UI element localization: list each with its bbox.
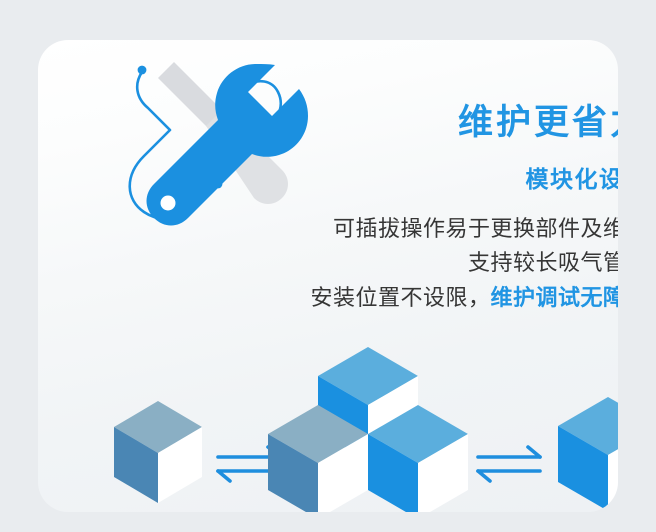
text-block: 维护更省力 模块化设计 可插拔操作易于更换部件及维护 支持较长吸气管网 安装位置… (188, 102, 618, 316)
feature-line-2-text: 支持较长吸气管网 (468, 250, 618, 275)
module-cube-cluster (268, 347, 468, 512)
module-cube-right (558, 397, 618, 511)
feature-line-1-text: 可插拔操作易于更换部件及维护 (333, 216, 618, 241)
infographic-stage: 维护更省力 模块化设计 可插拔操作易于更换部件及维护 支持较长吸气管网 安装位置… (0, 0, 656, 532)
feature-line-1: 可插拔操作易于更换部件及维护 (188, 212, 618, 247)
feature-line-3-highlight: 维护调试无障碍 (490, 285, 618, 310)
module-cube-left (114, 401, 202, 503)
circuit-node-icon (138, 66, 147, 75)
section-subtitle: 模块化设计 (188, 166, 618, 194)
feature-line-3-text: 安装位置不设限， (310, 285, 490, 310)
feature-line-3: 安装位置不设限，维护调试无障碍 (188, 281, 618, 316)
page-title: 维护更省力 (188, 102, 618, 144)
equilibrium-arrow-right (478, 447, 540, 481)
feature-line-2: 支持较长吸气管网 (188, 246, 618, 281)
module-exchange-diagram (58, 335, 618, 512)
feature-card: 维护更省力 模块化设计 可插拔操作易于更换部件及维护 支持较长吸气管网 安装位置… (38, 40, 618, 512)
